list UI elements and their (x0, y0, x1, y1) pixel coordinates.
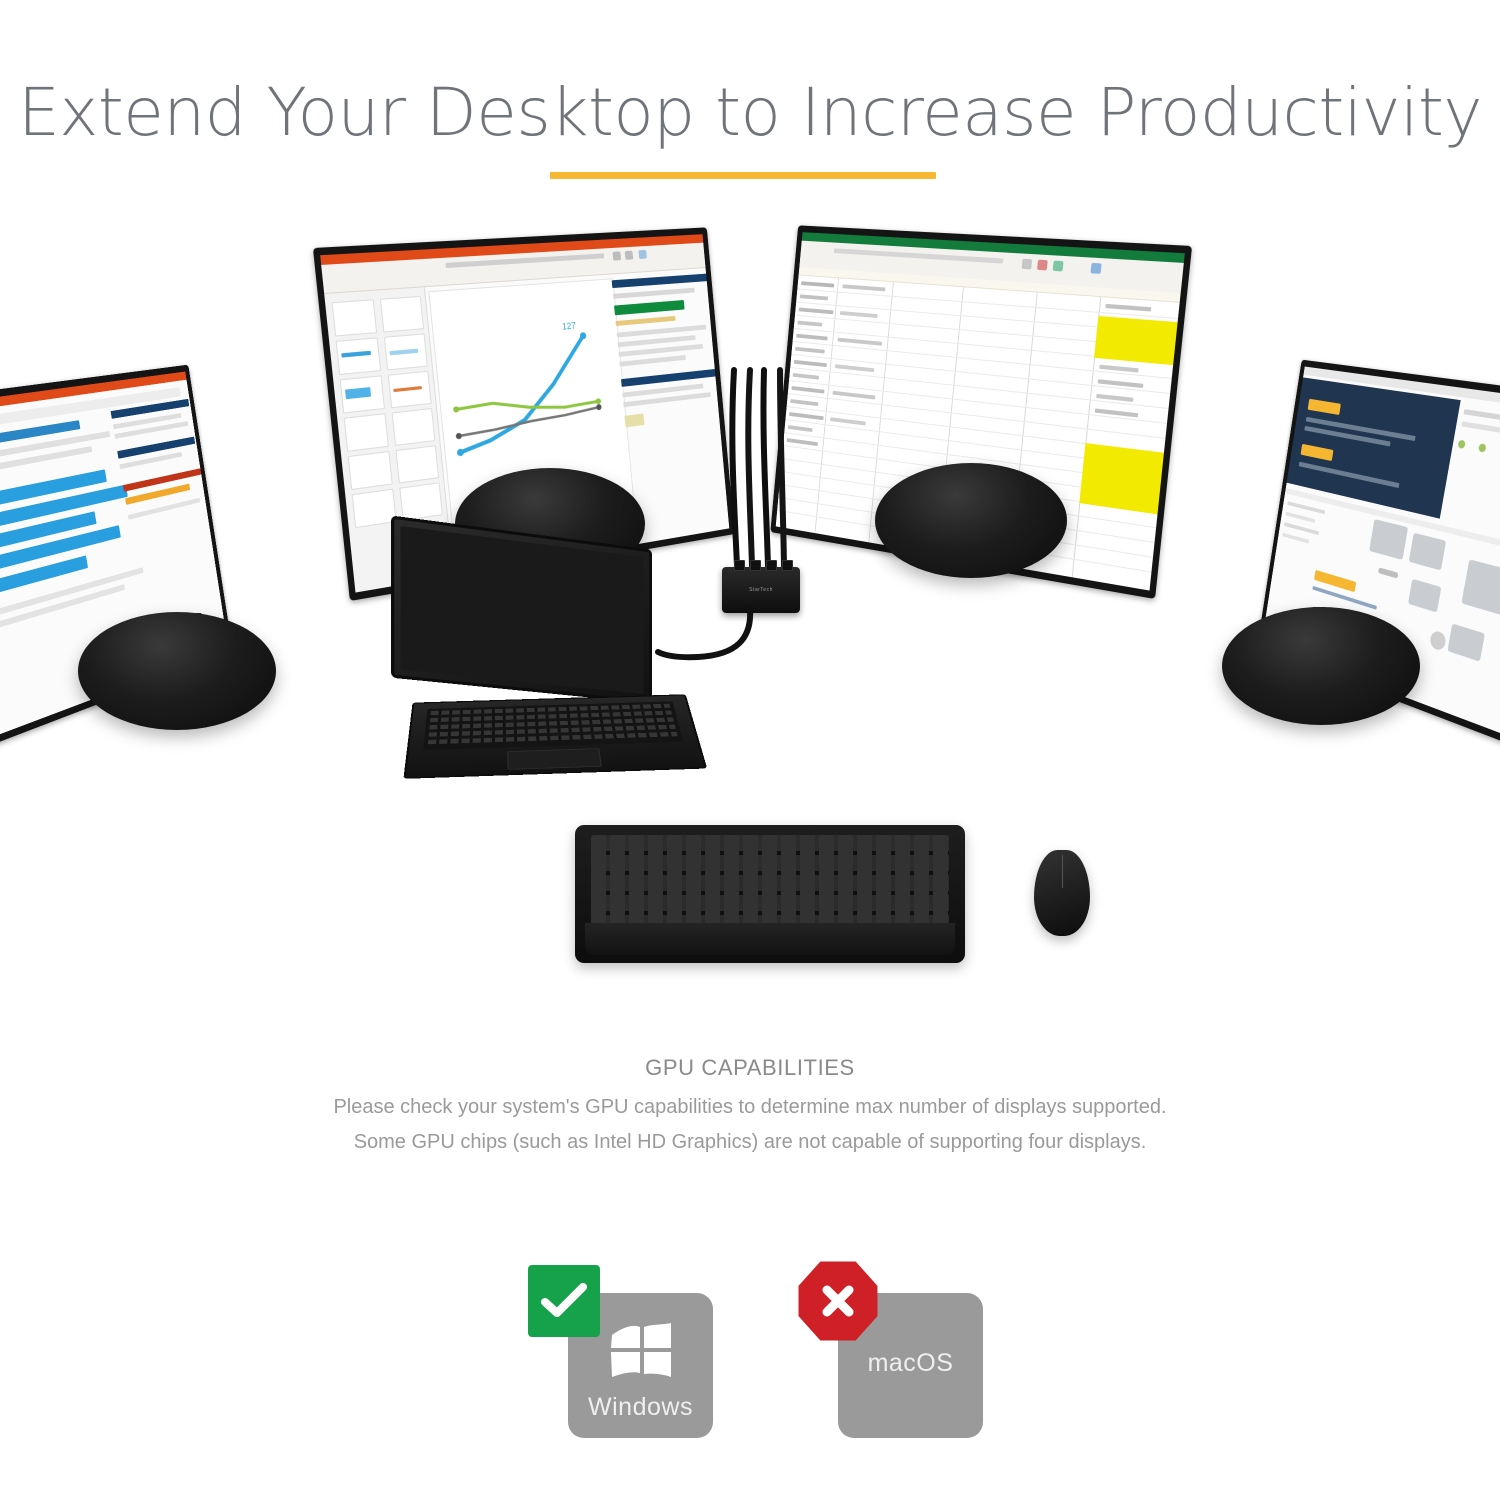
spreadsheet-highlight-cell-2 (1079, 443, 1166, 515)
os-compat-windows: Windows (520, 1265, 720, 1455)
mouse-button-divider (1062, 855, 1063, 888)
monitor-4-stand-base (1222, 607, 1420, 725)
laptop-base (403, 694, 707, 779)
laptop-lid (391, 515, 652, 703)
laptop (385, 515, 705, 815)
product-thumb-6 (1447, 623, 1485, 661)
check-glyph (541, 1283, 587, 1319)
product-scene: 127 (0, 215, 1500, 1005)
product-thumb-4 (1408, 579, 1441, 613)
cross-glyph (817, 1280, 859, 1322)
windows-logo-icon (609, 1321, 673, 1379)
product-thumb-2 (1409, 533, 1446, 571)
monitor-3-stand-base (875, 463, 1067, 578)
mst-hub-label: StarTech (722, 587, 800, 593)
product-thumb-3 (1461, 559, 1500, 617)
gpu-note-heading: GPU CAPABILITIES (0, 1055, 1500, 1081)
hub-port-2 (750, 560, 761, 571)
mst-hub: StarTech (722, 567, 800, 613)
gpu-note-line-1: Please check your system's GPU capabilit… (0, 1096, 1500, 1119)
os-compatibility-row: Windows macOS (0, 1265, 1500, 1455)
keyboard-palm-rest (585, 923, 955, 955)
hub-port-3 (766, 560, 777, 571)
mouse[interactable] (1034, 850, 1090, 936)
spreadsheet-highlight-cell-1 (1094, 316, 1180, 365)
windows-label: Windows (568, 1393, 713, 1422)
os-compat-macos: macOS (790, 1265, 990, 1455)
laptop-keyboard (423, 701, 683, 750)
hub-port-4 (782, 560, 793, 571)
slide-line-chart: 127 (439, 308, 626, 476)
gpu-note-line-2: Some GPU chips (such as Intel HD Graphic… (0, 1131, 1500, 1154)
product-thumb-1 (1369, 519, 1408, 560)
check-icon (528, 1265, 600, 1337)
macos-label: macOS (838, 1349, 983, 1378)
keyboard[interactable] (575, 825, 965, 963)
laptop-screen (401, 526, 644, 694)
title-underline-accent (550, 172, 936, 179)
laptop-trackpad[interactable] (507, 748, 602, 770)
page-title: Extend Your Desktop to Increase Producti… (0, 74, 1500, 151)
hub-port-1 (734, 560, 745, 571)
svg-text:127: 127 (562, 321, 577, 332)
monitor-1-stand-base (78, 612, 276, 730)
